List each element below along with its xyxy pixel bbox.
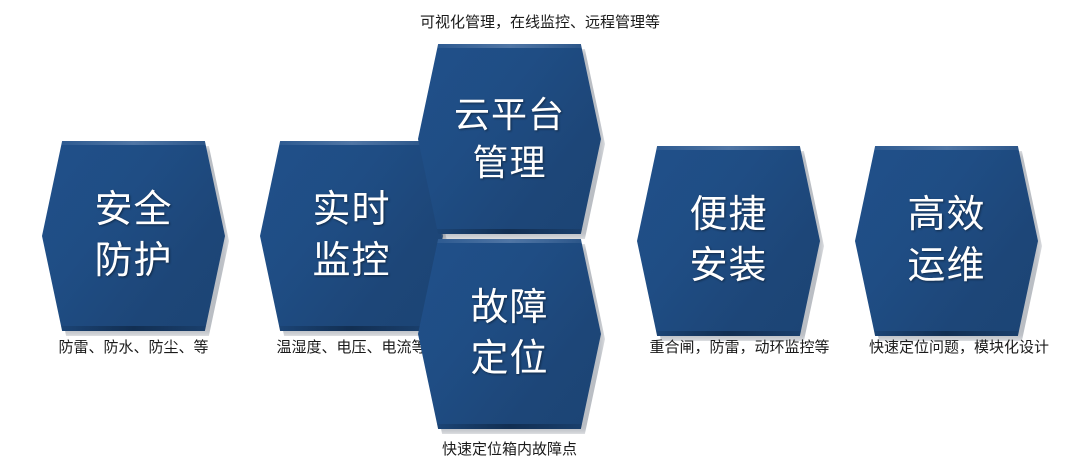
caption-fault-location: 快速定位箱内故障点 — [393, 441, 626, 459]
hexagon-label-convenient-installation: 便捷 安装 — [689, 190, 767, 292]
hexagon-label-realtime-monitoring: 实时 监控 — [312, 185, 390, 287]
hexagon-efficient-operation[interactable]: 高效 运维 — [855, 146, 1038, 336]
hexagon-realtime-monitoring[interactable]: 实时 监控 — [260, 141, 443, 331]
hexagon-fault-location[interactable]: 故障 定位 — [418, 239, 601, 429]
caption-efficient-operation: 快速定位问题，模块化设计 — [848, 339, 1070, 357]
caption-convenient-installation: 重合闸，防雷，动环监控等 — [637, 339, 842, 357]
caption-security-protection: 防雷、防水、防尘、等 — [17, 339, 250, 357]
hexagon-label-security-protection: 安全 防护 — [94, 185, 172, 287]
hexagon-label-cloud-platform-management: 云平台 管理 — [454, 91, 565, 187]
caption-cloud-platform-management: 可视化管理，在线监控、远程管理等 — [380, 14, 700, 32]
hexagon-security-protection[interactable]: 安全 防护 — [42, 141, 225, 331]
hexagon-cloud-platform-management[interactable]: 云平台 管理 — [418, 44, 601, 234]
hexagon-convenient-installation[interactable]: 便捷 安装 — [637, 146, 820, 336]
hexagon-feature-diagram: 可视化管理，在线监控、远程管理等 安全 防护 防雷、防水、防尘、等 实时 监控 … — [0, 0, 1080, 473]
hexagon-label-fault-location: 故障 定位 — [470, 283, 548, 385]
hexagon-label-efficient-operation: 高效 运维 — [907, 190, 985, 292]
